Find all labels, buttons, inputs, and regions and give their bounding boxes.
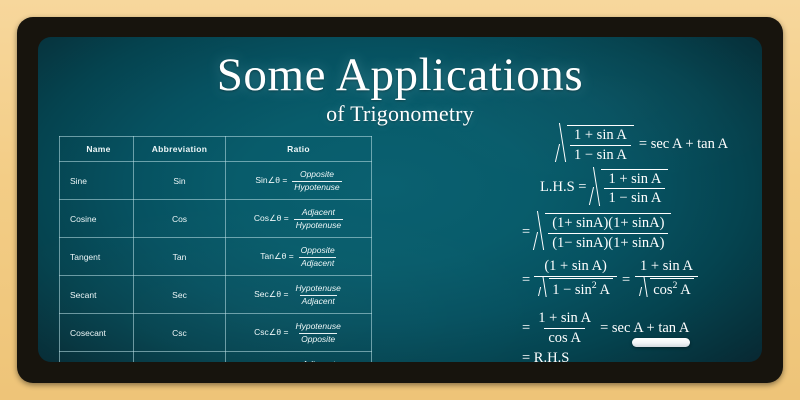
equation-tail: = sec A + tan A [600,320,689,337]
radical-sign-icon [639,278,650,299]
equals-sign: = [522,272,530,289]
fraction-denominator: 1 − sin A [604,188,665,207]
fraction-denominator: 1 − sin A [570,145,631,164]
cell-abbreviation: Cot [134,352,226,363]
fraction: 1 + sin A cos A [534,310,595,347]
radicand-text-tail: A [597,282,610,298]
outer-frame: Some Applications of Trigonometry Name A… [0,0,800,400]
board-bezel: Some Applications of Trigonometry Name A… [17,17,783,383]
equals-sign: = [522,320,530,337]
fraction-numerator: 1 + sin A [636,258,697,276]
fraction-denominator: cos A [544,328,585,347]
eraser[interactable] [632,338,690,347]
rhs-label: = R.H.S [522,350,569,362]
ratio-lhs: Sin∠θ = [255,175,287,186]
equation-line-2: L.H.S = 1 + sin A 1 − sin A [540,169,762,208]
ratio-lhs: Sec∠θ = [254,289,288,300]
ratio-fraction: Opposite Hypotenuse [292,169,341,193]
fraction-numerator: Adjacent [300,359,337,362]
cell-name: Secant [60,276,134,314]
cell-ratio: Sec∠θ = Hypotenuse Adjacent [226,276,372,314]
title-block: Some Applications of Trigonometry [38,51,762,127]
fraction-denominator: (1− sinA)(1+ sinA) [548,233,668,252]
fraction-numerator: 1 + sin A [604,171,665,189]
radical-sign-icon [538,278,549,299]
chalkboard: Some Applications of Trigonometry Name A… [38,37,762,362]
ratio-fraction: Hypotenuse Opposite [293,321,342,345]
ratio-lhs: Csc∠θ = [254,327,288,338]
radical-sign-icon [556,125,567,164]
cell-name: Cosine [60,200,134,238]
lhs-label: L.H.S = [540,179,586,196]
cell-name: Sine [60,162,134,200]
table-row: Cosine Cos Cos∠θ = Adjacent Hypotenuse [60,200,372,238]
proof-equations: 1 + sin A 1 − sin A = sec A + tan A L.H.… [518,125,762,362]
fraction-numerator: Adjacent [300,207,337,218]
ratio-fraction: Adjacent Opposite [300,359,338,362]
sqrt-radical: cos2 A [639,278,694,299]
radicand-text: cos [653,282,672,298]
fraction-denominator: Opposite [299,333,337,345]
ratio-lhs: Cos∠θ = [254,213,289,224]
sqrt-radical: 1 + sin A 1 − sin A [590,169,668,208]
table-row: Sine Sin Sin∠θ = Opposite Hypotenuse [60,162,372,200]
fraction-numerator: Hypotenuse [293,321,342,332]
cell-abbreviation: Cos [134,200,226,238]
cell-ratio: Csc∠θ = Hypotenuse Opposite [226,314,372,352]
equals-sign: = [522,224,530,241]
sqrt-radical: 1 + sin A 1 − sin A [556,125,634,164]
cell-name: Cosecant [60,314,134,352]
fraction-numerator: 1 + sin A [570,127,631,145]
cell-abbreviation: Csc [134,314,226,352]
cell-abbreviation: Sec [134,276,226,314]
fraction-numerator: Opposite [299,245,337,256]
column-header-ratio: Ratio [226,137,372,162]
cell-name: Tangent [60,238,134,276]
fraction-denominator: Adjacent [300,295,337,307]
fraction: 1 + sin A 1 − sin A [604,171,665,208]
trig-ratio-table: Name Abbreviation Ratio Sine Sin Sin∠θ = [59,136,372,362]
cell-ratio: Tan∠θ = Opposite Adjacent [226,238,372,276]
fraction: (1+ sinA)(1+ sinA) (1− sinA)(1+ sinA) [548,215,668,252]
table-row: Cosecant Csc Csc∠θ = Hypotenuse Opposite [60,314,372,352]
sqrt-radical: 1 − sin2 A [538,278,613,299]
fraction: 1 + sin A cos2 A [635,258,698,303]
fraction-numerator: (1 + sin A) [540,258,611,276]
table-row: Tangent Tan Tan∠θ = Opposite Adjacent [60,238,372,276]
cell-abbreviation: Tan [134,238,226,276]
fraction-denominator: Hypotenuse [294,219,343,231]
ratio-lhs: Tan∠θ = [260,251,293,262]
cell-abbreviation: Sin [134,162,226,200]
sqrt-radical: (1+ sinA)(1+ sinA) (1− sinA)(1+ sinA) [534,213,671,252]
fraction: 1 + sin A 1 − sin A [570,127,631,164]
equation-tail: = sec A + tan A [639,136,728,153]
fraction-denominator: 1 − sin2 A [534,276,617,303]
page-title: Some Applications [38,51,762,99]
page-subtitle: of Trigonometry [38,101,762,127]
fraction-denominator: Hypotenuse [292,181,341,193]
fraction: (1 + sin A) 1 − sin2 A [534,258,617,303]
fraction-numerator: (1+ sinA)(1+ sinA) [548,215,668,233]
equation-line-4: = (1 + sin A) 1 − sin2 A = 1 + sin A [522,258,762,303]
cell-ratio: Cot ∠θ = Adjacent Opposite [226,352,372,363]
cell-name: Cotangent [60,352,134,363]
equation-line-3: = (1+ sinA)(1+ sinA) (1− sinA)(1+ sinA) [522,213,762,252]
equals-sign-mid: = [622,272,630,289]
cell-ratio: Cos∠θ = Adjacent Hypotenuse [226,200,372,238]
fraction-numerator: Hypotenuse [293,283,342,294]
fraction-numerator: 1 + sin A [534,310,595,328]
radicand-text: 1 − sin [552,282,592,298]
ratio-fraction: Hypotenuse Adjacent [293,283,342,307]
fraction-denominator: cos2 A [635,276,698,303]
table-row: Cotangent Cot Cot ∠θ = Adjacent Opposite [60,352,372,363]
radicand-text-tail: A [677,282,690,298]
fraction-denominator: Adjacent [299,257,336,269]
radical-sign-icon [590,169,601,208]
ratio-fraction: Adjacent Hypotenuse [294,207,343,231]
cell-ratio: Sin∠θ = Opposite Hypotenuse [226,162,372,200]
equation-line-6: = R.H.S [522,350,762,362]
column-header-name: Name [60,137,134,162]
table-header-row: Name Abbreviation Ratio [60,137,372,162]
column-header-abbreviation: Abbreviation [134,137,226,162]
table-row: Secant Sec Sec∠θ = Hypotenuse Adjacent [60,276,372,314]
equation-line-1: 1 + sin A 1 − sin A = sec A + tan A [556,125,762,164]
fraction-numerator: Opposite [298,169,336,180]
ratio-fraction: Opposite Adjacent [299,245,337,269]
radical-sign-icon [534,213,545,252]
